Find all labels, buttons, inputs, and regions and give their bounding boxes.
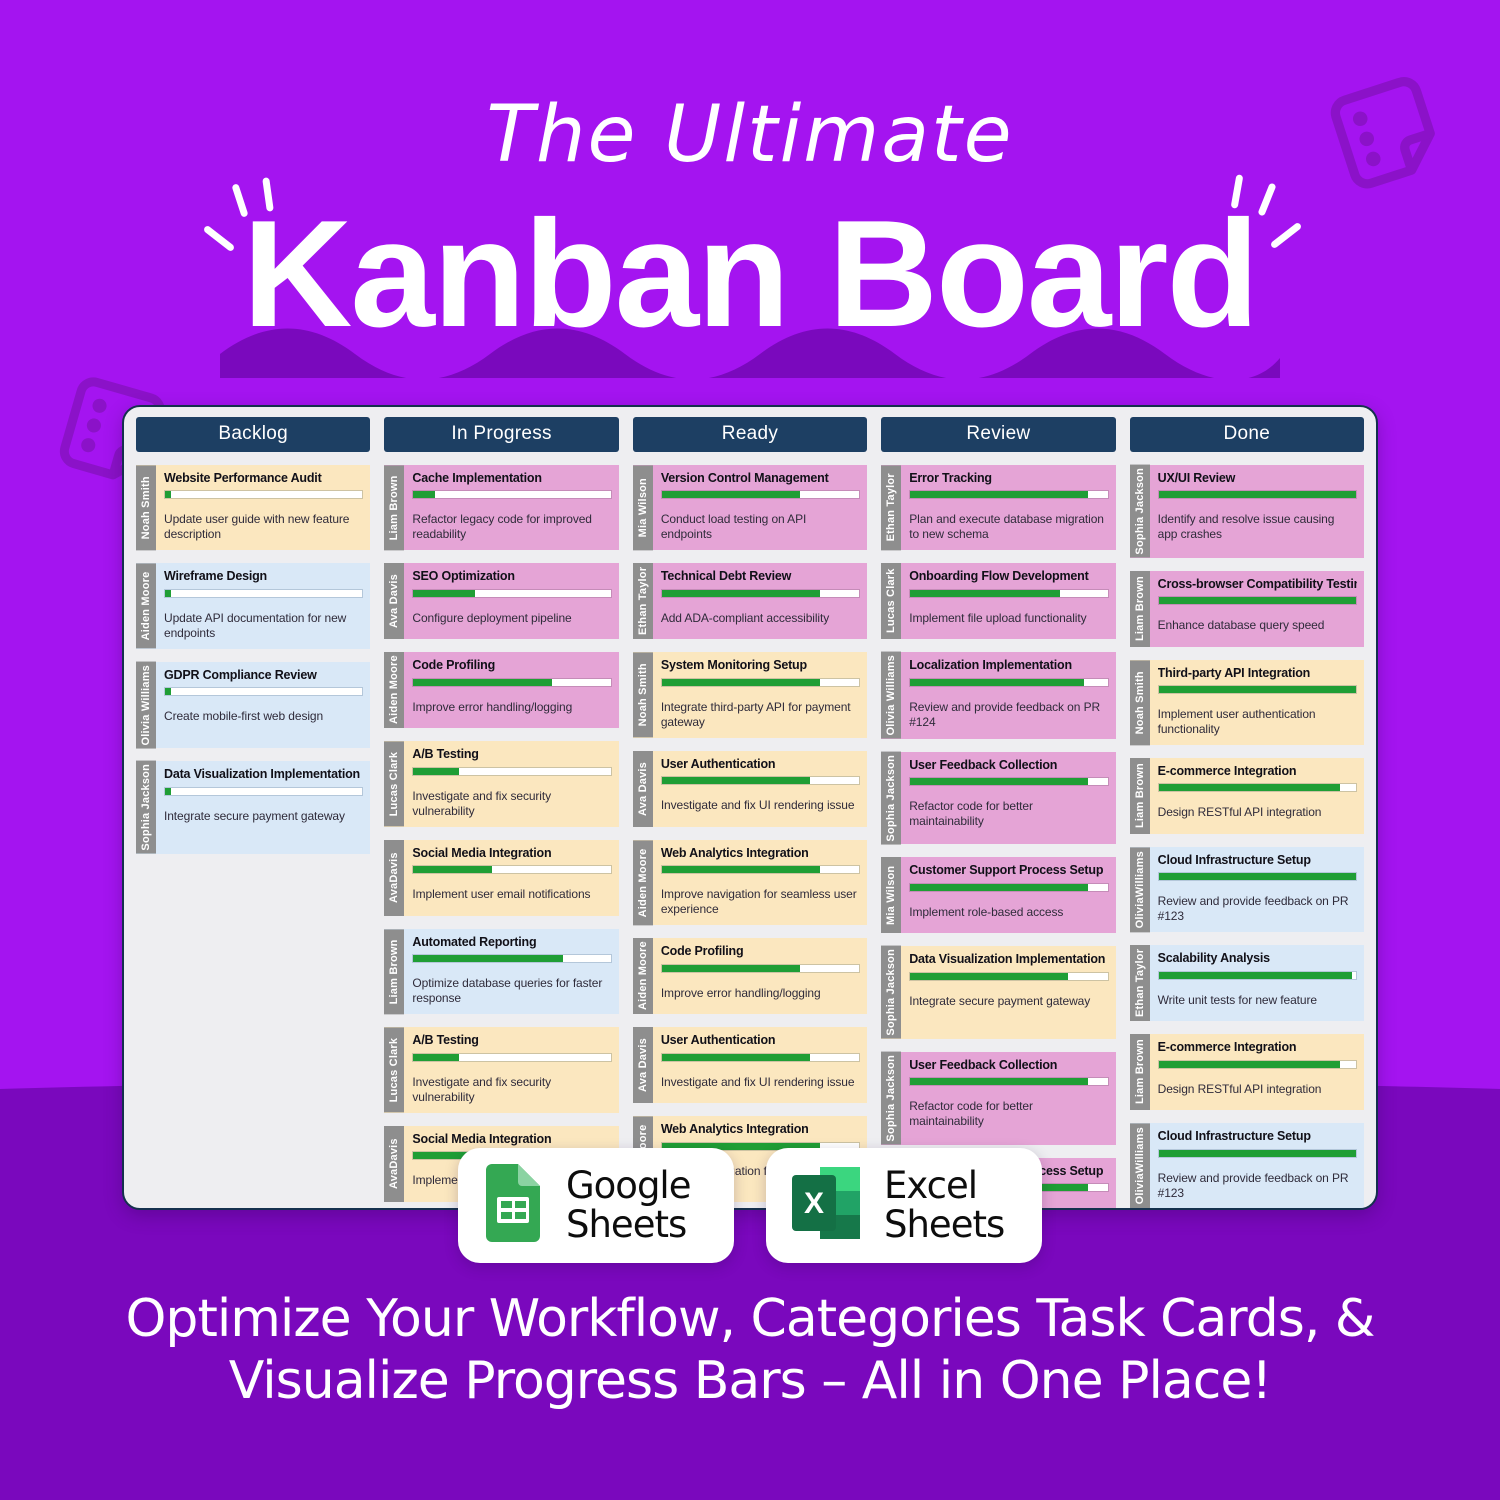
card-owner-label: Olivia Williams <box>881 652 901 739</box>
card-owner-label: Sophia Jackson <box>136 761 156 854</box>
card-title: Web Analytics Integration <box>661 1122 860 1136</box>
card-description: Identify and resolve issue causing app c… <box>1158 512 1357 542</box>
card-owner-label: Lucas Clark <box>384 741 404 826</box>
card-description: Review and provide feedback on PR #123 <box>1158 894 1357 924</box>
card-title: Third-party API Integration <box>1158 666 1357 680</box>
card-progress-bar <box>412 589 611 598</box>
card-title: User Authentication <box>661 757 860 771</box>
card-owner-label: Ava Davis <box>384 563 404 639</box>
card-progress-bar <box>909 883 1108 892</box>
google-sheets-icon <box>482 1164 544 1247</box>
card-owner-label: Ethan Taylor <box>881 465 901 550</box>
card-progress-fill <box>662 866 820 873</box>
card-body: Website Performance AuditUpdate user gui… <box>156 465 370 550</box>
kanban-column-done: DoneSophia JacksonUX/UI ReviewIdentify a… <box>1130 417 1364 1208</box>
card-title: Cloud Infrastructure Setup <box>1158 1129 1357 1143</box>
card-progress-fill <box>1159 491 1356 498</box>
task-card[interactable]: Aiden MooreWireframe DesignUpdate API do… <box>136 563 370 648</box>
card-body: User AuthenticationInvestigate and fix U… <box>653 1027 867 1103</box>
card-owner-label: Olivia Williams <box>136 662 156 749</box>
task-card[interactable]: Liam BrownE-commerce IntegrationDesign R… <box>1130 758 1364 834</box>
card-body: Social Media IntegrationImplement user e… <box>404 840 618 916</box>
card-description: Update API documentation for new endpoin… <box>164 611 363 641</box>
task-card[interactable]: Ava DavisUser AuthenticationInvestigate … <box>633 751 867 827</box>
excel-icon: X <box>790 1165 862 1246</box>
card-progress-bar <box>412 865 611 874</box>
card-progress-bar <box>909 490 1108 499</box>
task-card[interactable]: Ethan TaylorTechnical Debt ReviewAdd ADA… <box>633 563 867 639</box>
card-body: Version Control ManagementConduct load t… <box>653 465 867 550</box>
card-progress-fill <box>910 679 1084 686</box>
card-description: Refactor code for better maintainability <box>909 799 1108 829</box>
card-progress-bar <box>661 865 860 874</box>
task-card[interactable]: Sophia JacksonUser Feedback CollectionRe… <box>881 1052 1115 1145</box>
card-title: Social Media Integration <box>412 1132 611 1146</box>
card-description: Plan and execute database migration to n… <box>909 512 1108 542</box>
card-progress-fill <box>1159 784 1341 791</box>
card-owner-label: Aiden Moore <box>384 652 404 728</box>
card-title: Scalability Analysis <box>1158 951 1357 965</box>
card-progress-bar <box>661 678 860 687</box>
card-owner-label: Noah Smith <box>633 652 653 737</box>
card-body: GDPR Compliance ReviewCreate mobile-firs… <box>156 662 370 749</box>
card-description: Conduct load testing on API endpoints <box>661 512 860 542</box>
card-progress-fill <box>662 965 800 972</box>
card-body: Cross-browser Compatibility TestingEnhan… <box>1150 571 1364 647</box>
task-card[interactable]: Sophia JacksonUser Feedback CollectionRe… <box>881 752 1115 845</box>
badge-google-sheets[interactable]: GoogleSheets <box>458 1148 734 1263</box>
card-description: Refactor legacy code for improved readab… <box>412 512 611 542</box>
card-body: Cloud Infrastructure SetupReview and pro… <box>1150 847 1364 932</box>
task-card[interactable]: Ethan TaylorError TrackingPlan and execu… <box>881 465 1115 550</box>
card-body: Wireframe DesignUpdate API documentation… <box>156 563 370 648</box>
card-description: Implement file upload functionality <box>909 611 1108 626</box>
card-progress-fill <box>413 679 551 686</box>
hero-header: The Ultimate Kanban Board <box>0 0 1500 390</box>
card-owner-label: Mia Wilson <box>881 857 901 933</box>
column-card-list: Sophia JacksonUX/UI ReviewIdentify and r… <box>1130 465 1364 1209</box>
column-header[interactable]: In Progress <box>384 417 618 452</box>
card-progress-fill <box>910 884 1088 891</box>
card-progress-bar <box>412 767 611 776</box>
card-progress-fill <box>662 590 820 597</box>
card-owner-label: Liam Brown <box>1130 571 1150 647</box>
card-owner-label: Mia Wilson <box>633 465 653 550</box>
badge-label-line-1: Excel <box>884 1167 1004 1206</box>
card-owner-label: Liam Brown <box>1130 758 1150 834</box>
card-progress-bar <box>1158 971 1357 980</box>
card-body: Customer Support Process SetupImplement … <box>901 857 1115 933</box>
card-description: Improve navigation for seamless user exp… <box>661 887 860 917</box>
card-owner-label: Lucas Clark <box>384 1027 404 1112</box>
task-card[interactable]: Noah SmithWebsite Performance AuditUpdat… <box>136 465 370 550</box>
card-progress-fill <box>1159 972 1352 979</box>
card-title: User Feedback Collection <box>909 758 1108 772</box>
card-body: A/B TestingInvestigate and fix security … <box>404 741 618 826</box>
task-card[interactable]: Liam BrownCache ImplementationRefactor l… <box>384 465 618 550</box>
task-card[interactable]: Liam BrownCross-browser Compatibility Te… <box>1130 571 1364 647</box>
kanban-column-in-progress: In ProgressLiam BrownCache Implementatio… <box>384 417 618 1208</box>
card-title: Onboarding Flow Development <box>909 569 1108 583</box>
card-progress-bar <box>412 490 611 499</box>
card-title: UX/UI Review <box>1158 471 1357 485</box>
task-card[interactable]: Liam BrownAutomated ReportingOptimize da… <box>384 929 618 1014</box>
card-progress-bar <box>1158 872 1357 881</box>
page-title: Kanban Board <box>243 195 1258 355</box>
card-description: Integrate third-party API for payment ga… <box>661 700 860 730</box>
card-body: User Feedback CollectionRefactor code fo… <box>901 752 1115 845</box>
badge-label-line-2: Sheets <box>566 1206 690 1245</box>
card-progress-fill <box>910 491 1088 498</box>
card-body: Code ProfilingImprove error handling/log… <box>404 652 618 728</box>
task-card[interactable]: Ava DavisUser AuthenticationInvestigate … <box>633 1027 867 1103</box>
card-title: Wireframe Design <box>164 569 363 583</box>
card-progress-fill <box>413 491 435 498</box>
task-card[interactable]: Olivia WilliamsGDPR Compliance ReviewCre… <box>136 662 370 749</box>
card-title: SEO Optimization <box>412 569 611 583</box>
card-owner-label: Sophia Jackson <box>881 752 901 845</box>
task-card[interactable]: AvaDavisSocial Media IntegrationImplemen… <box>384 840 618 916</box>
task-card[interactable]: Ethan TaylorScalability AnalysisWrite un… <box>1130 945 1364 1021</box>
card-progress-fill <box>662 1054 810 1061</box>
card-progress-bar <box>661 964 860 973</box>
task-card[interactable]: Lucas ClarkOnboarding Flow DevelopmentIm… <box>881 563 1115 639</box>
card-owner-label: Aiden Moore <box>633 938 653 1014</box>
card-owner-label: Liam Brown <box>384 465 404 550</box>
footer-line-1: Optimize Your Workflow, Categories Task … <box>0 1288 1500 1350</box>
badge-label: ExcelSheets <box>884 1167 1004 1245</box>
task-card[interactable]: Aiden MooreCode ProfilingImprove error h… <box>633 938 867 1014</box>
card-description: Review and provide feedback on PR #124 <box>909 700 1108 730</box>
kanban-column-review: ReviewEthan TaylorError TrackingPlan and… <box>881 417 1115 1208</box>
card-title: Customer Support Process Setup <box>909 863 1108 877</box>
card-description: Add ADA-compliant accessibility <box>661 611 860 626</box>
card-title: Code Profiling <box>412 658 611 672</box>
column-header[interactable]: Ready <box>633 417 867 452</box>
card-owner-label: Ava Davis <box>633 751 653 827</box>
card-title: User Authentication <box>661 1033 860 1047</box>
card-description: Implement user email notifications <box>412 887 611 902</box>
card-body: Cache ImplementationRefactor legacy code… <box>404 465 618 550</box>
badge-label: GoogleSheets <box>566 1167 690 1245</box>
card-description: Implement user authentication functional… <box>1158 707 1357 737</box>
svg-text:X: X <box>804 1187 824 1220</box>
card-progress-fill <box>165 590 171 597</box>
task-card[interactable]: Aiden MooreCode ProfilingImprove error h… <box>384 652 618 728</box>
card-progress-bar <box>909 678 1108 687</box>
card-body: Code ProfilingImprove error handling/log… <box>653 938 867 1014</box>
card-title: A/B Testing <box>412 747 611 761</box>
card-description: Investigate and fix security vulnerabili… <box>412 1075 611 1105</box>
card-body: User Feedback CollectionRefactor code fo… <box>901 1052 1115 1145</box>
kanban-board: BacklogNoah SmithWebsite Performance Aud… <box>122 405 1378 1210</box>
card-progress-fill <box>413 590 474 597</box>
card-owner-label: OliviaWilliams <box>1130 847 1150 932</box>
card-description: Enhance database query speed <box>1158 618 1357 633</box>
card-body: UX/UI ReviewIdentify and resolve issue c… <box>1150 465 1364 558</box>
card-title: System Monitoring Setup <box>661 658 860 672</box>
card-owner-label: Ethan Taylor <box>1130 945 1150 1021</box>
card-description: Configure deployment pipeline <box>412 611 611 626</box>
card-owner-label: Ava Davis <box>633 1027 653 1103</box>
kanban-column-ready: ReadyMia WilsonVersion Control Managemen… <box>633 417 867 1208</box>
card-description: Improve error handling/logging <box>661 986 860 1001</box>
card-progress-fill <box>910 1078 1088 1085</box>
card-title: Error Tracking <box>909 471 1108 485</box>
card-title: E-commerce Integration <box>1158 1040 1357 1054</box>
card-body: Onboarding Flow DevelopmentImplement fil… <box>901 563 1115 639</box>
task-card[interactable]: Olivia WilliamsLocalization Implementati… <box>881 652 1115 739</box>
column-header[interactable]: Done <box>1130 417 1364 452</box>
card-description: Refactor code for better maintainability <box>909 1099 1108 1129</box>
card-owner-label: Liam Brown <box>1130 1034 1150 1110</box>
card-progress-bar <box>164 787 363 796</box>
task-card[interactable]: Sophia JacksonUX/UI ReviewIdentify and r… <box>1130 465 1364 558</box>
card-progress-fill <box>413 1054 458 1061</box>
badge-excel[interactable]: XExcelSheets <box>766 1148 1042 1263</box>
badge-label-line-2: Sheets <box>884 1206 1004 1245</box>
card-body: E-commerce IntegrationDesign RESTful API… <box>1150 1034 1364 1110</box>
card-progress-bar <box>164 490 363 499</box>
card-owner-label: Noah Smith <box>1130 660 1150 745</box>
card-progress-bar <box>661 776 860 785</box>
task-card[interactable]: Mia WilsonVersion Control ManagementCond… <box>633 465 867 550</box>
card-progress-bar <box>909 777 1108 786</box>
card-title: Data Visualization Implementation <box>909 952 1108 966</box>
card-progress-fill <box>910 973 1068 980</box>
card-description: Investigate and fix security vulnerabili… <box>412 789 611 819</box>
card-progress-bar <box>1158 783 1357 792</box>
card-title: Social Media Integration <box>412 846 611 860</box>
task-card[interactable]: Noah SmithThird-party API IntegrationImp… <box>1130 660 1364 745</box>
card-progress-fill <box>1159 686 1356 693</box>
card-description: Improve error handling/logging <box>412 700 611 715</box>
column-card-list: Ethan TaylorError TrackingPlan and execu… <box>881 465 1115 1210</box>
card-body: A/B TestingInvestigate and fix security … <box>404 1027 618 1112</box>
card-title: Code Profiling <box>661 944 860 958</box>
card-progress-bar <box>661 589 860 598</box>
card-description: Create mobile-first web design <box>164 709 363 724</box>
card-description: Design RESTful API integration <box>1158 1082 1357 1097</box>
card-description: Integrate secure payment gateway <box>909 994 1108 1009</box>
card-title: A/B Testing <box>412 1033 611 1047</box>
card-description: Implement role-based access <box>909 905 1108 920</box>
card-progress-bar <box>1158 685 1357 694</box>
card-description: Design RESTful API integration <box>1158 805 1357 820</box>
card-description: Investigate and fix UI rendering issue <box>661 798 860 813</box>
task-card[interactable]: Mia WilsonCustomer Support Process Setup… <box>881 857 1115 933</box>
task-card[interactable]: Noah SmithSystem Monitoring SetupIntegra… <box>633 652 867 737</box>
card-progress-bar <box>661 1053 860 1062</box>
card-title: Cross-browser Compatibility Testing <box>1158 577 1357 591</box>
card-progress-bar <box>909 972 1108 981</box>
card-description: Investigate and fix UI rendering issue <box>661 1075 860 1090</box>
card-title: Cache Implementation <box>412 471 611 485</box>
column-card-list: Noah SmithWebsite Performance AuditUpdat… <box>136 465 370 854</box>
card-owner-label: Ethan Taylor <box>633 563 653 639</box>
card-progress-fill <box>413 955 563 962</box>
card-body: E-commerce IntegrationDesign RESTful API… <box>1150 758 1364 834</box>
task-card[interactable]: OliviaWilliamsCloud Infrastructure Setup… <box>1130 847 1364 932</box>
card-body: SEO OptimizationConfigure deployment pip… <box>404 563 618 639</box>
card-description: Write unit tests for new feature <box>1158 993 1357 1008</box>
task-card[interactable]: Lucas ClarkA/B TestingInvestigate and fi… <box>384 1027 618 1112</box>
card-progress-fill <box>413 768 458 775</box>
card-body: Data Visualization ImplementationIntegra… <box>901 946 1115 1039</box>
task-card[interactable]: Ava DavisSEO OptimizationConfigure deplo… <box>384 563 618 639</box>
card-title: Data Visualization Implementation <box>164 767 363 781</box>
card-body: Automated ReportingOptimize database que… <box>404 929 618 1014</box>
card-progress-bar <box>412 678 611 687</box>
card-progress-fill <box>1159 1061 1341 1068</box>
column-header[interactable]: Review <box>881 417 1115 452</box>
card-progress-fill <box>1159 597 1356 604</box>
card-title: Website Performance Audit <box>164 471 363 485</box>
task-card[interactable]: Sophia JacksonData Visualization Impleme… <box>136 761 370 854</box>
card-progress-fill <box>662 491 800 498</box>
card-progress-fill <box>910 778 1088 785</box>
card-title: E-commerce Integration <box>1158 764 1357 778</box>
card-description: Update user guide with new feature descr… <box>164 512 363 542</box>
card-body: Technical Debt ReviewAdd ADA-compliant a… <box>653 563 867 639</box>
kanban-column-backlog: BacklogNoah SmithWebsite Performance Aud… <box>136 417 370 1208</box>
card-title: GDPR Compliance Review <box>164 668 363 682</box>
card-title: Technical Debt Review <box>661 569 860 583</box>
card-body: Web Analytics IntegrationImprove navigat… <box>653 840 867 925</box>
card-description: Integrate secure payment gateway <box>164 809 363 824</box>
card-progress-fill <box>413 866 492 873</box>
badge-label-line-1: Google <box>566 1167 690 1206</box>
task-card[interactable]: Liam BrownE-commerce IntegrationDesign R… <box>1130 1034 1364 1110</box>
card-progress-fill <box>165 491 171 498</box>
card-title: Version Control Management <box>661 471 860 485</box>
card-progress-fill <box>662 777 810 784</box>
card-progress-bar <box>412 1053 611 1062</box>
card-owner-label: Noah Smith <box>136 465 156 550</box>
platform-badges: GoogleSheetsXExcelSheets <box>0 1148 1500 1263</box>
footer-line-2: Visualize Progress Bars – All in One Pla… <box>0 1350 1500 1412</box>
card-owner-label: Aiden Moore <box>136 563 156 648</box>
card-owner-label: Liam Brown <box>384 929 404 1014</box>
column-card-list: Liam BrownCache ImplementationRefactor l… <box>384 465 618 1202</box>
card-owner-label: Sophia Jackson <box>881 1052 901 1145</box>
card-progress-bar <box>909 589 1108 598</box>
card-body: Data Visualization ImplementationIntegra… <box>156 761 370 854</box>
card-description: Optimize database queries for faster res… <box>412 976 611 1006</box>
footer-tagline: Optimize Your Workflow, Categories Task … <box>0 1288 1500 1413</box>
card-title: Localization Implementation <box>909 658 1108 672</box>
card-owner-label: AvaDavis <box>384 840 404 916</box>
task-card[interactable]: Sophia JacksonData Visualization Impleme… <box>881 946 1115 1039</box>
task-card[interactable]: Lucas ClarkA/B TestingInvestigate and fi… <box>384 741 618 826</box>
card-owner-label: Sophia Jackson <box>1130 465 1150 558</box>
card-body: Error TrackingPlan and execute database … <box>901 465 1115 550</box>
card-progress-fill <box>165 688 171 695</box>
card-progress-bar <box>164 589 363 598</box>
card-progress-fill <box>1159 873 1356 880</box>
task-card[interactable]: Aiden MooreWeb Analytics IntegrationImpr… <box>633 840 867 925</box>
card-progress-fill <box>165 788 171 795</box>
column-card-list: Mia WilsonVersion Control ManagementCond… <box>633 465 867 1202</box>
card-progress-fill <box>910 590 1060 597</box>
card-body: Scalability AnalysisWrite unit tests for… <box>1150 945 1364 1021</box>
card-title: Web Analytics Integration <box>661 846 860 860</box>
card-body: User AuthenticationInvestigate and fix U… <box>653 751 867 827</box>
card-body: Localization ImplementationReview and pr… <box>901 652 1115 739</box>
card-progress-bar <box>164 687 363 696</box>
card-progress-bar <box>661 490 860 499</box>
card-progress-bar <box>1158 1060 1357 1069</box>
card-title: Cloud Infrastructure Setup <box>1158 853 1357 867</box>
card-title: User Feedback Collection <box>909 1058 1108 1072</box>
card-progress-fill <box>662 679 820 686</box>
card-title: Automated Reporting <box>412 935 611 949</box>
card-body: System Monitoring SetupIntegrate third-p… <box>653 652 867 737</box>
column-header[interactable]: Backlog <box>136 417 370 452</box>
card-progress-bar <box>1158 596 1357 605</box>
card-owner-label: Aiden Moore <box>633 840 653 925</box>
card-progress-bar <box>909 1077 1108 1086</box>
card-progress-bar <box>1158 490 1357 499</box>
card-body: Third-party API IntegrationImplement use… <box>1150 660 1364 745</box>
hero-eyebrow: The Ultimate <box>0 96 1500 174</box>
card-owner-label: Sophia Jackson <box>881 946 901 1039</box>
card-progress-bar <box>412 954 611 963</box>
kanban-columns: BacklogNoah SmithWebsite Performance Aud… <box>124 407 1376 1208</box>
card-owner-label: Lucas Clark <box>881 563 901 639</box>
